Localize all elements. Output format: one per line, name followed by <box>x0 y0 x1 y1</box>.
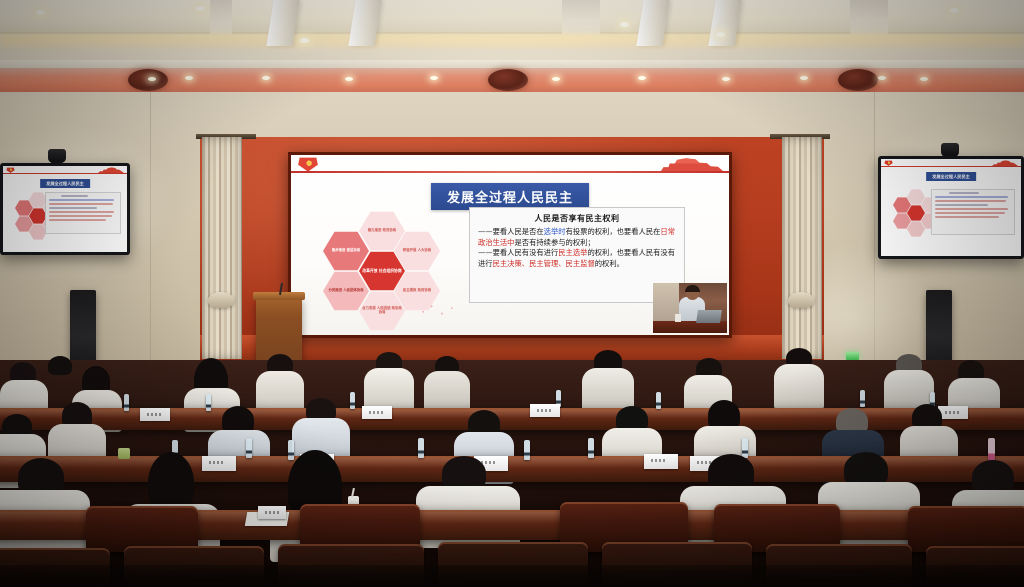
lectern <box>256 297 302 361</box>
water-bottle <box>246 438 252 458</box>
ceiling-downlight <box>36 10 45 15</box>
name-card <box>140 408 170 421</box>
textbox-paragraph: ——要看人民是否在选举时有投票的权利，也要看人民在日常政治生活中是否有持续参与的… <box>478 227 676 248</box>
conference-hall-photo: 发展全过程人民民主 稳扎推进 政党协商 积极开展 人大协商 民主理政 政府协商 … <box>0 0 1024 587</box>
ceiling-downlight <box>716 32 725 37</box>
water-bottle <box>418 438 424 458</box>
water-bottle <box>588 438 594 458</box>
monitor-slide-title: 发展全过程人民民主 <box>40 179 90 188</box>
water-bottle <box>206 394 211 411</box>
monitor-slide-title: 发展全过程人民民主 <box>926 172 976 181</box>
water-bottle <box>988 438 995 460</box>
water-bottle <box>124 394 129 411</box>
security-camera-icon <box>941 143 959 157</box>
water-bottle <box>742 438 748 458</box>
hexagon-diagram: 稳扎推进 政党协商 积极开展 人大协商 民主理政 政府协商 合力发展 人民团结 … <box>313 211 463 323</box>
decorative-dots <box>419 301 461 319</box>
name-card <box>258 506 286 519</box>
ceiling-downlight <box>196 6 205 11</box>
water-bottle <box>288 440 294 460</box>
ceiling-soffit-band <box>0 60 1024 94</box>
name-card <box>938 406 968 419</box>
security-camera-icon <box>48 149 66 163</box>
lecturer-video-inset <box>653 283 727 333</box>
monitor-textbox-mini <box>931 189 1015 235</box>
presentation-slide: 发展全过程人民民主 稳扎推进 政党协商 积极开展 人大协商 民主理政 政府协商 … <box>291 155 729 335</box>
curtain-tieback <box>208 292 234 308</box>
laptop-icon <box>696 310 722 323</box>
name-card <box>362 406 392 419</box>
name-card <box>530 404 560 417</box>
monitor-textbox-mini <box>45 192 121 234</box>
tea-cup <box>118 448 130 459</box>
great-hall-icon <box>661 157 723 171</box>
slide-title: 发展全过程人民民主 <box>431 183 589 210</box>
textbox-heading: 人民是否享有民主权利 <box>478 213 676 224</box>
audience-seating-area <box>0 360 1024 587</box>
textbox-paragraph: ——要看人民有没有进行民主选举的权利，也要看人民有没有进行民主决策、民主管理、民… <box>478 248 676 269</box>
ceiling-speaker-icon <box>488 69 528 91</box>
water-bottle <box>656 392 661 409</box>
water-bottle <box>350 392 355 409</box>
exit-indicator-icon <box>846 352 859 360</box>
ceiling-downlight <box>300 38 309 43</box>
ceiling-speaker-icon <box>838 69 878 91</box>
ceiling-downlight <box>620 22 629 27</box>
side-monitor-left: 发展全过程人民民主 <box>0 163 130 255</box>
water-bottle <box>860 390 865 407</box>
water-bottle <box>524 440 530 460</box>
ceiling <box>0 0 1024 60</box>
party-emblem-icon <box>297 156 319 172</box>
name-card <box>644 454 678 469</box>
name-card <box>202 456 236 471</box>
stage-curtain-right <box>782 137 822 359</box>
curtain-tieback <box>788 292 814 308</box>
hexagon-cell: 分类推进 人民团体协商 <box>323 271 369 311</box>
side-monitor-right: 发展全过程人民民主 <box>878 156 1024 259</box>
hexagon-cell: 稳步推进 基层协商 <box>323 231 369 271</box>
main-projection-screen: 发展全过程人民民主 稳扎推进 政党协商 积极开展 人大协商 民主理政 政府协商 … <box>288 152 732 338</box>
stage-curtain-left <box>202 137 242 359</box>
ceiling-downlight <box>950 8 959 13</box>
